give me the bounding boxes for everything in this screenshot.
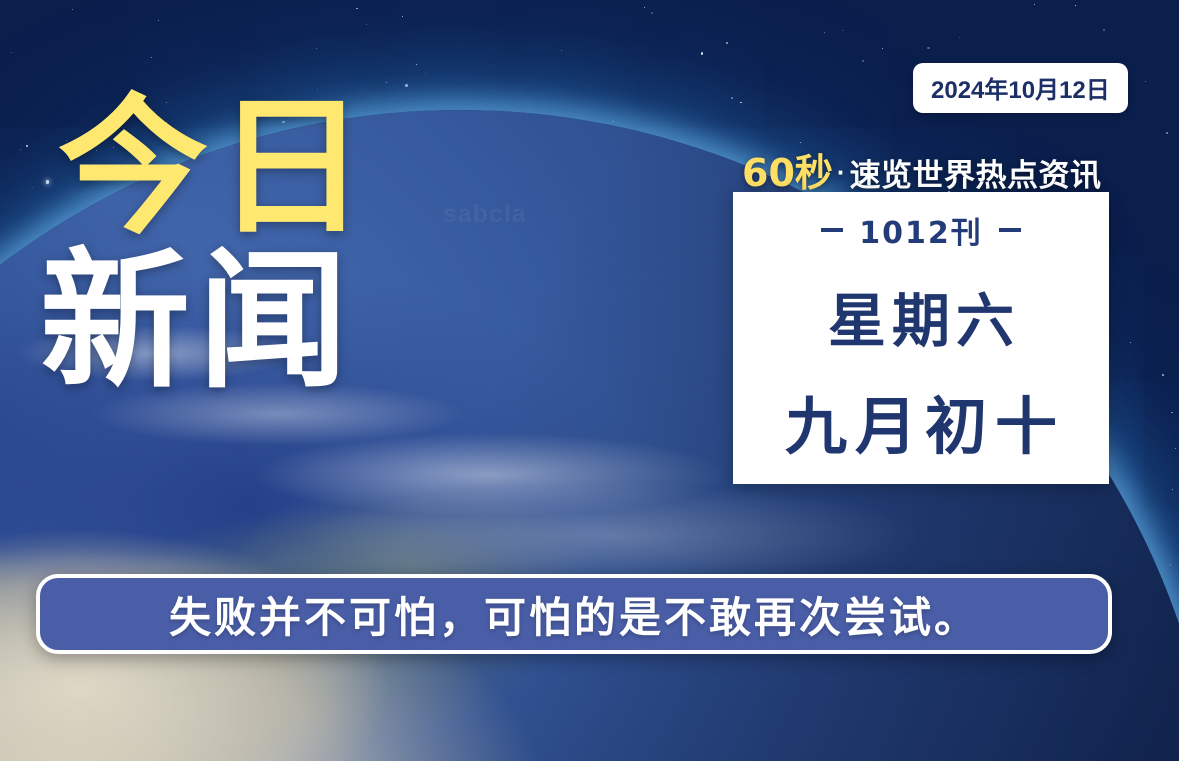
tagline-separator: · [833,157,850,187]
star-dot [72,9,73,10]
date-card: 1012刊 星期六 九月初十 [733,192,1109,484]
star-dot [32,187,33,188]
tagline: 60秒·速览世界热点资讯 [742,142,1102,197]
tagline-seconds: 60秒 [742,151,833,195]
star-dot [1103,29,1105,31]
lunar-date-label: 九月初十 [777,376,1065,466]
star-dot [644,7,646,9]
star-dot [612,121,614,123]
star-dot [740,102,742,104]
star-dot [11,52,12,53]
news-poster: sabcla 今日 新闻 2024年10月12日 60秒·速览世界热点资讯 10… [0,0,1179,761]
star-dot [651,12,653,14]
star-dot [726,42,728,44]
star-dot [402,16,403,17]
star-dot [1130,342,1131,343]
star-dot [46,180,49,183]
star-dot [927,47,929,49]
star-dot [1171,412,1173,414]
headline-line-2: 新闻 [40,250,374,394]
issue-number-row: 1012刊 [821,208,1021,252]
tagline-description: 速览世界热点资讯 [850,158,1102,193]
star-dot [158,20,159,21]
star-dot [959,37,960,38]
watermark-text: sabcla [443,200,527,229]
star-dot [701,52,703,54]
quote-bar: 失败并不可怕，可怕的是不敢再次尝试。 [36,574,1112,654]
issue-number-label: 1012刊 [859,208,983,252]
star-dot [1034,4,1035,5]
star-dot [1145,81,1146,82]
star-dot [26,145,28,147]
headline-line-1: 今日 [58,96,374,240]
star-dot [386,82,387,83]
star-dot [862,60,864,62]
star-dot [151,57,153,59]
star-dot [882,48,883,49]
star-dot [842,30,844,32]
star-dot [1166,132,1168,134]
star-dot [561,50,562,51]
star-dot [1162,374,1164,376]
star-dot [316,48,317,49]
star-dot [731,97,733,99]
star-dot [416,64,417,65]
star-dot [425,73,426,74]
star-dot [20,149,21,150]
star-dot [1172,489,1173,490]
star-dot [356,8,358,10]
dash-right-icon [999,228,1021,232]
star-dot [1170,564,1172,566]
star-dot [405,84,407,86]
dash-left-icon [821,228,843,232]
quote-text: 失败并不可怕，可怕的是不敢再次尝试。 [169,584,979,645]
star-dot [824,32,825,33]
star-dot [1175,448,1176,449]
date-badge: 2024年10月12日 [913,63,1128,113]
star-dot [1075,5,1076,6]
weekday-label: 星期六 [822,274,1020,358]
star-dot [366,24,367,25]
page-title: 今日 新闻 [58,96,374,394]
